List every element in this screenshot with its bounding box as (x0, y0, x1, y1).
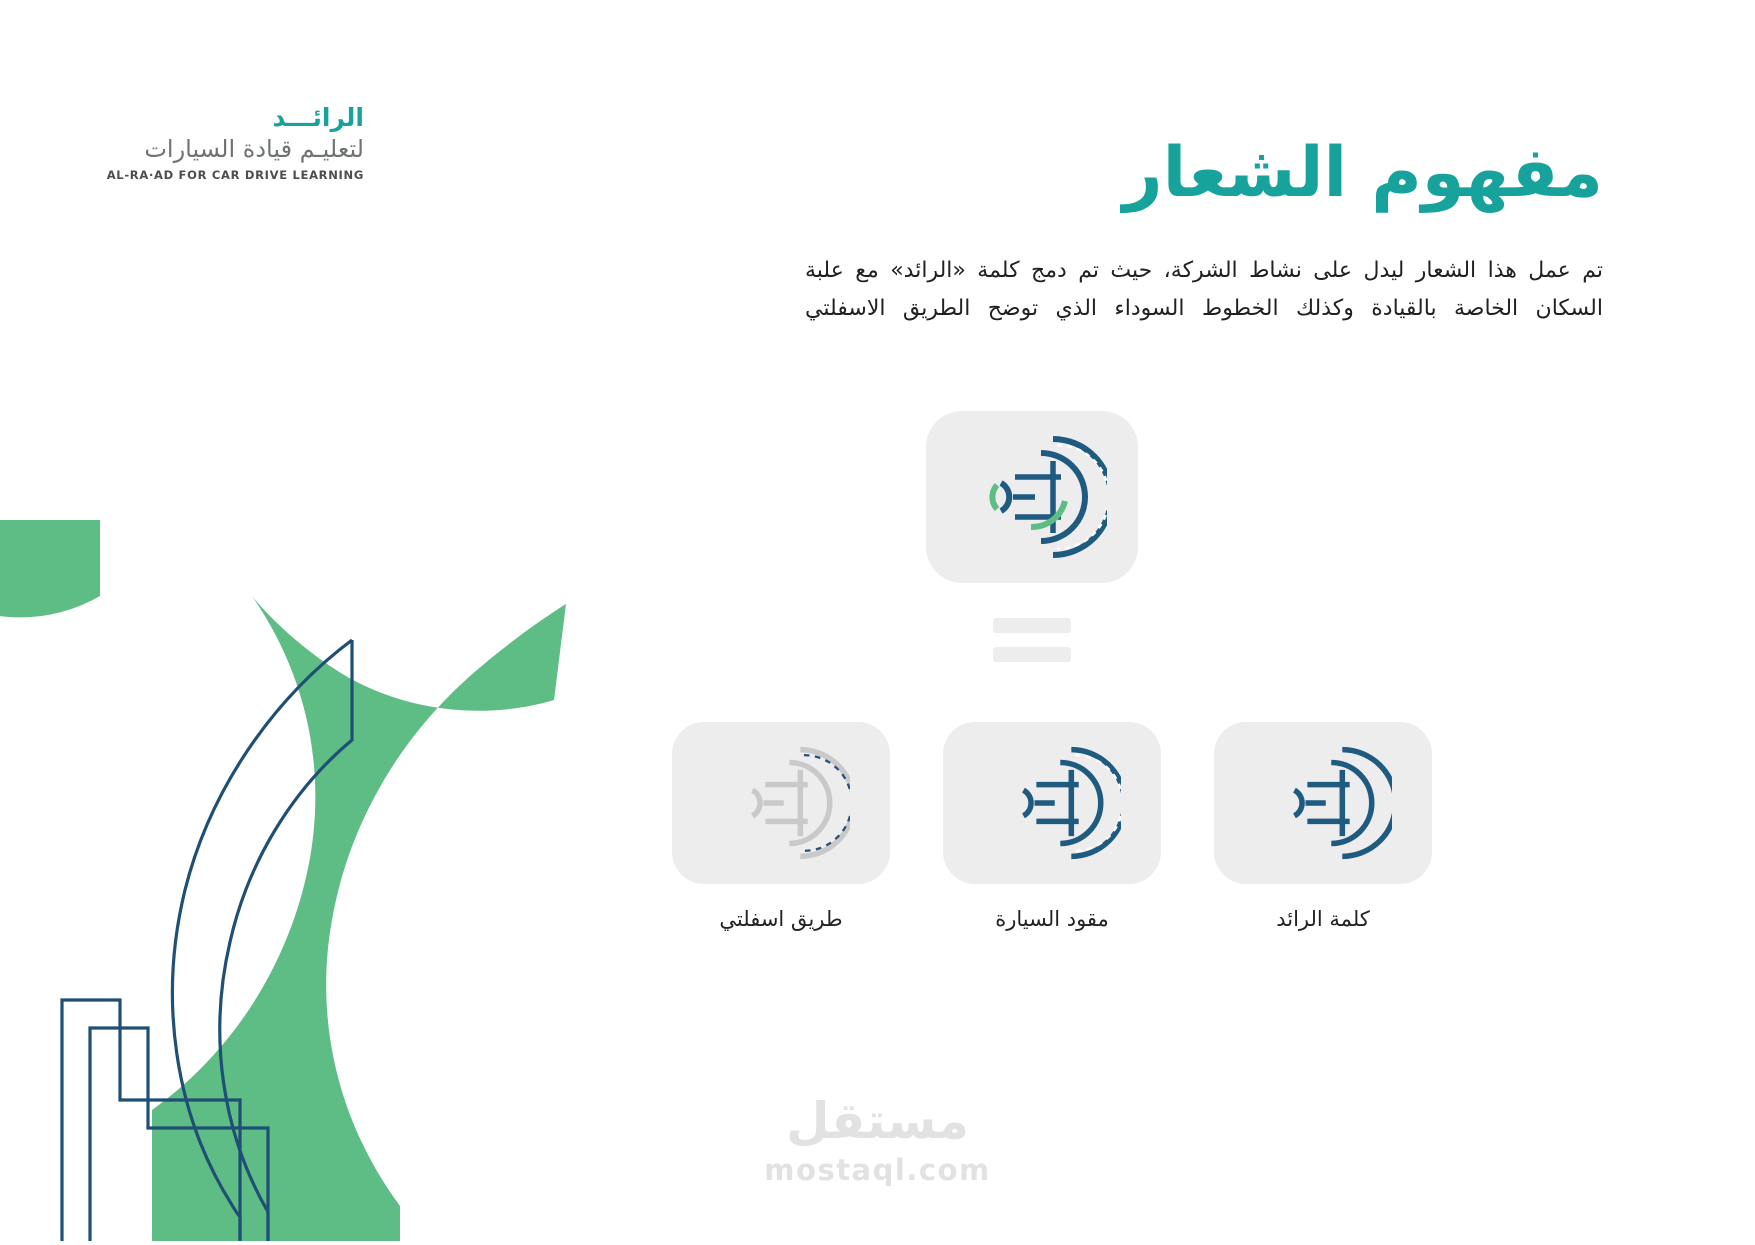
concept-paragraph: تم عمل هذا الشعار ليدل على نشاط الشركة، … (805, 252, 1603, 328)
alraad-word-mark-icon (1254, 742, 1392, 864)
watermark-latin: mostaql.com (0, 1156, 1755, 1185)
logo-component-row: طريق اسفلتي مقود السيارة (660, 722, 1450, 952)
logo-component-steering-wheel: مقود السيارة (943, 722, 1161, 933)
steering-wheel-tile (943, 722, 1161, 884)
green-arc-small (0, 478, 100, 617)
component-label-alraad-word: كلمة الرائد (1214, 906, 1432, 933)
logo-mark-result-tile (926, 411, 1138, 583)
green-leaf-shape (150, 572, 560, 1241)
steering-wheel-mark-icon (983, 742, 1121, 864)
navy-outline-shape (62, 640, 352, 1241)
brand-tagline-english: AL-RA·AD FOR CAR DRIVE LEARNING (96, 169, 364, 182)
page-title: مفهوم الشعار (843, 136, 1603, 212)
asphalt-road-tile (672, 722, 890, 884)
logo-component-asphalt-road: طريق اسفلتي (672, 722, 890, 933)
green-stroke-outer (150, 600, 563, 1241)
brand-tagline-arabic: لتعليـم قيادة السيارات (96, 135, 364, 164)
alraad-word-tile (1214, 722, 1432, 884)
equals-operator-icon (993, 618, 1071, 662)
mostaql-watermark: مستقل mostaql.com (0, 1096, 1755, 1185)
asphalt-road-mark-icon (712, 742, 850, 864)
brand-lockup: الرائـــد لتعليـم قيادة السيارات AL-RA·A… (96, 104, 364, 181)
brand-name: الرائـــد (96, 104, 364, 133)
logo-component-alraad-word: كلمة الرائد (1214, 722, 1432, 933)
logo-breakdown-equation: طريق اسفلتي مقود السيارة (660, 400, 1450, 960)
component-label-steering-wheel: مقود السيارة (943, 906, 1161, 933)
watermark-arabic: مستقل (0, 1096, 1755, 1146)
logo-mark-full-icon (957, 431, 1107, 563)
component-label-asphalt-road: طريق اسفلتي (672, 906, 890, 933)
